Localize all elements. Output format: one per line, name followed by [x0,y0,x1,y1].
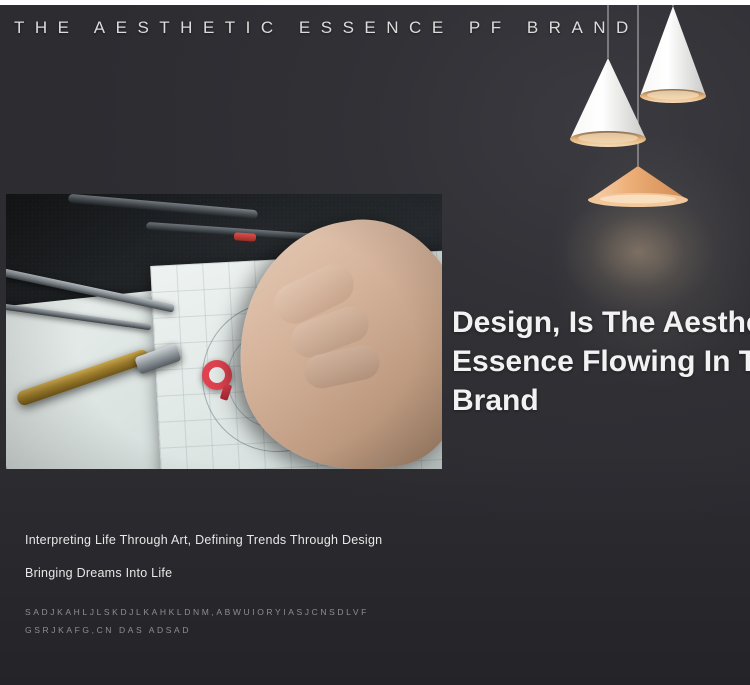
hero-subcopy: Interpreting Life Through Art, Defining … [25,533,382,580]
hero-fineprint: SADJKAHLJLSKDJLKAHKLDNM,ABWUIORYIASJCNSD… [25,604,369,640]
photo-desk-surface: © [6,194,442,469]
pen-red-accent [234,232,257,242]
page-root: THE AESTHETIC ESSENCE PF BRAND © [0,0,750,685]
hero-headline: Design, Is The Aesthetic Essence Flowing… [452,303,750,420]
top-white-strip [0,0,750,5]
subcopy-line-2: Bringing Dreams Into Life [25,566,382,580]
photo-watermark: © [380,457,386,464]
fineprint-line-1: SADJKAHLJLSKDJLKAHKLDNM,ABWUIORYIASJCNSD… [25,604,369,622]
subcopy-line-1: Interpreting Life Through Art, Defining … [25,533,382,547]
fineprint-line-2: GSRJKAFG,CN DAS ADSAD [25,622,369,640]
hero-photo: © [6,194,442,469]
page-title: THE AESTHETIC ESSENCE PF BRAND [14,18,639,38]
brand-title-band: THE AESTHETIC ESSENCE PF BRAND [0,5,750,50]
